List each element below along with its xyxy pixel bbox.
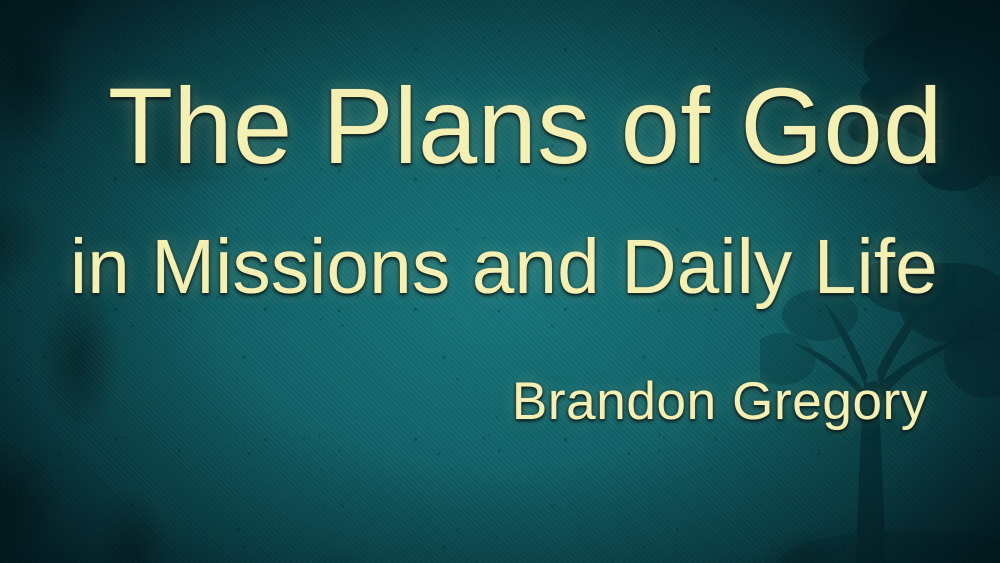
slide-title: The Plans of God bbox=[108, 72, 943, 180]
slide-content: The Plans of God in Missions and Daily L… bbox=[0, 0, 1000, 563]
slide-author: Brandon Gregory bbox=[512, 375, 928, 428]
slide-subtitle: in Missions and Daily Life bbox=[70, 229, 938, 306]
title-slide: The Plans of God in Missions and Daily L… bbox=[0, 0, 1000, 563]
